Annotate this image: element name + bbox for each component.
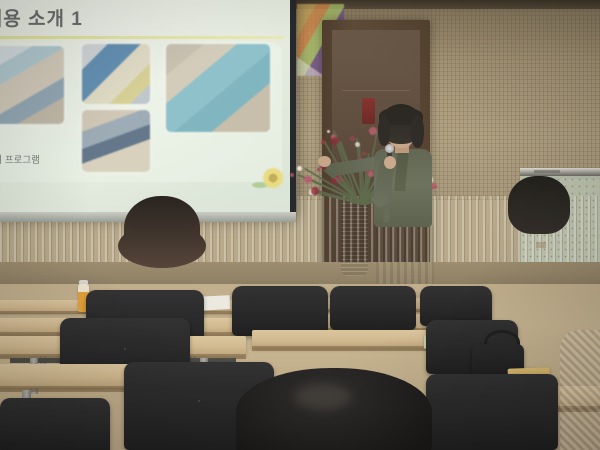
projection-screen: 험 내용 소개 1 료 래놀이 프로그램 [0, 0, 290, 212]
flower-blossom [327, 130, 330, 133]
shirt-tag [536, 242, 546, 248]
slide-photo-2 [82, 44, 150, 104]
flower-blossom [321, 140, 325, 144]
presenter-hair-left [378, 116, 390, 146]
chair[interactable] [426, 374, 558, 450]
slide-accent-rule [0, 36, 284, 39]
flower-blossom [297, 166, 302, 171]
slide-photo-4 [166, 44, 270, 132]
flower-blossom [304, 176, 312, 184]
chair[interactable] [0, 398, 110, 450]
chair-detail [198, 400, 200, 402]
flower-blossom [331, 137, 339, 145]
flower-blossom [317, 168, 320, 171]
attendee-white-blouse [98, 196, 224, 304]
door-detail-line [342, 90, 410, 91]
flower-blossom [311, 187, 319, 195]
sunflower-logo-icon [262, 167, 284, 189]
attendee-beige-shirt [478, 176, 600, 306]
hair-highlight [294, 384, 352, 410]
attendee-far-right [560, 330, 600, 450]
seminar-room-photo: 험 내용 소개 1 료 래놀이 프로그램 [0, 0, 600, 450]
presenter-right-hand [384, 156, 396, 169]
presenter-skirt [376, 224, 434, 284]
presenter [352, 104, 444, 284]
slide-title: 험 내용 소개 1 [0, 4, 83, 31]
presenter-left-hand [318, 156, 331, 167]
slide-photo-3 [82, 110, 150, 172]
attendee-foreground [236, 368, 432, 450]
chair[interactable] [330, 286, 416, 330]
chair[interactable] [232, 286, 328, 336]
flower-blossom [290, 173, 294, 177]
board-label [534, 170, 560, 173]
slide-body-line-2: 래놀이 프로그램 [0, 152, 40, 166]
attendee-torso [482, 224, 600, 306]
chair-detail [124, 348, 126, 350]
microphone-icon [385, 144, 394, 153]
slide-photo-1 [0, 46, 64, 124]
presenter-hair-right [411, 116, 424, 148]
